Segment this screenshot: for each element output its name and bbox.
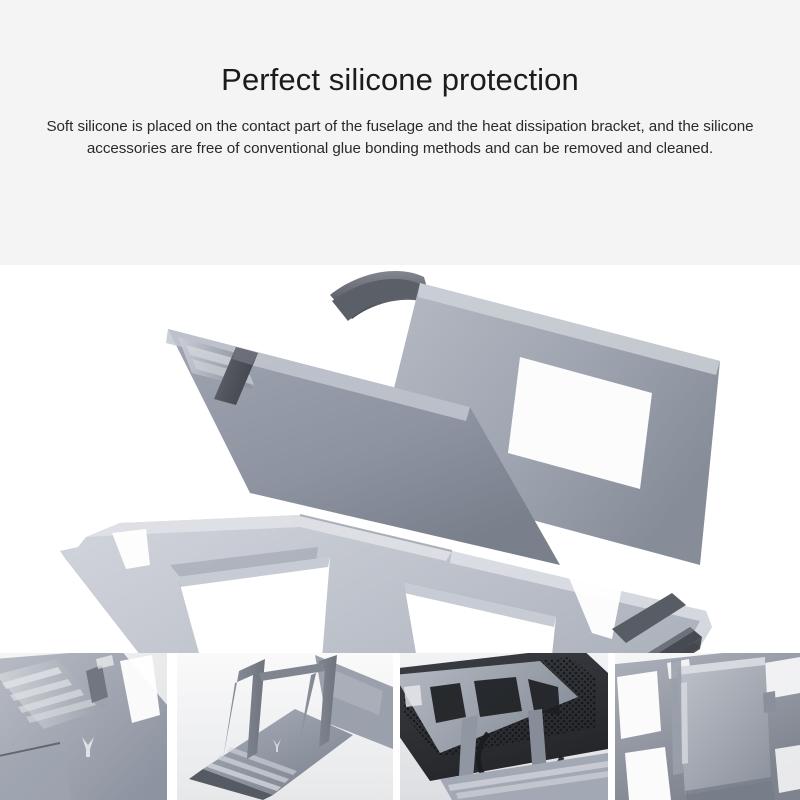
thumbnail-gap-3 — [608, 653, 615, 800]
thumbnail-folded-flat[interactable] — [615, 653, 800, 800]
thumbnail-laptop-underside[interactable] — [400, 653, 608, 800]
thumb-2-illustration — [177, 653, 393, 800]
thumbnail-strip — [0, 653, 800, 800]
thumbnail-gap-2 — [393, 653, 400, 800]
page-description: Soft silicone is placed on the contact p… — [29, 116, 771, 160]
thumbnail-gap-1 — [167, 653, 177, 800]
page-title: Perfect silicone protection — [26, 62, 774, 99]
thumb-1-illustration — [0, 653, 167, 800]
product-detail-page: Perfect silicone protection Soft silicon… — [0, 0, 800, 800]
thumb-3-illustration — [400, 653, 608, 800]
hero-product-image — [0, 265, 800, 653]
thumbnail-folding-legs[interactable] — [177, 653, 393, 800]
thumbnail-silicone-ribs[interactable] — [0, 653, 167, 800]
header-section: Perfect silicone protection Soft silicon… — [0, 0, 800, 265]
laptop-stand-illustration — [0, 265, 800, 653]
thumb-4-illustration — [615, 653, 800, 800]
